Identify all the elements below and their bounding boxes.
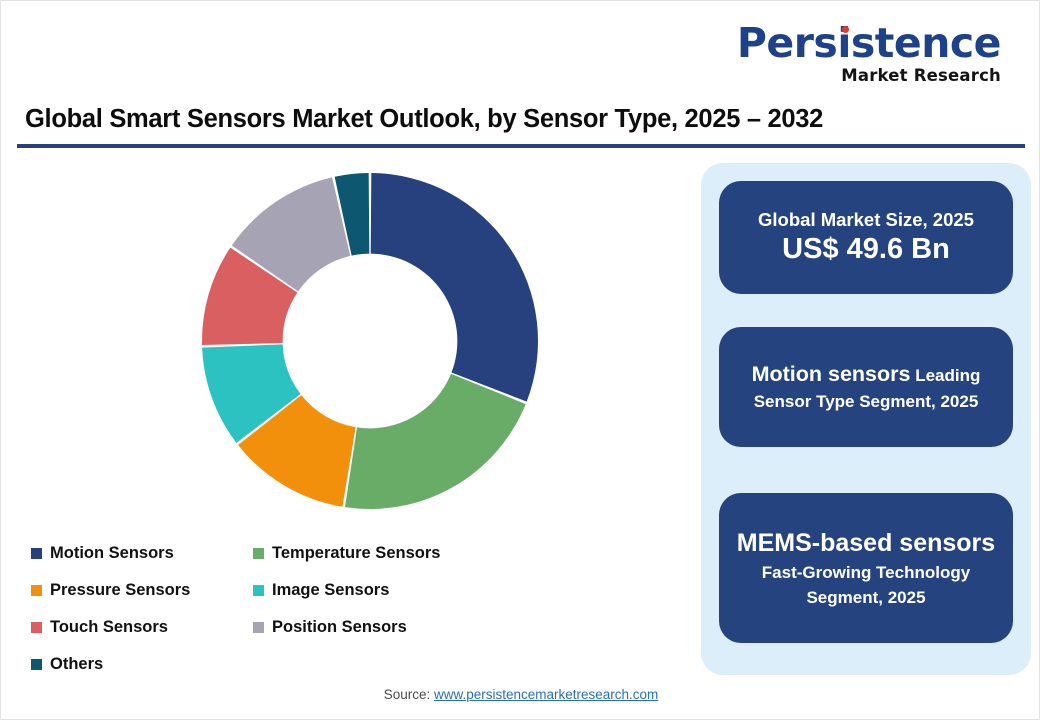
source-line: Source: www.persistencemarketresearch.co… xyxy=(1,687,1040,702)
stat-card-fast-growing-segment: MEMS-based sensors Fast-Growing Technolo… xyxy=(719,493,1013,643)
fast-growing-segment-emphasis: MEMS-based sensors xyxy=(737,529,995,557)
legend-item-label: Position Sensors xyxy=(272,618,407,637)
stat-card-market-size: Global Market Size, 2025 US$ 49.6 Bn xyxy=(719,181,1013,294)
chart-area xyxy=(17,156,689,536)
fast-growing-segment-text: MEMS-based sensors Fast-Growing Technolo… xyxy=(735,525,997,611)
title-divider xyxy=(17,144,1025,148)
donut-chart xyxy=(200,171,540,511)
legend-item[interactable]: Touch Sensors xyxy=(31,609,253,646)
legend-item-label: Temperature Sensors xyxy=(272,544,440,563)
chart-legend: Motion SensorsTemperature SensorsPressur… xyxy=(31,535,691,683)
legend-item[interactable]: Motion Sensors xyxy=(31,535,253,572)
legend-item[interactable]: Others xyxy=(31,646,253,683)
legend-swatch-icon xyxy=(253,622,264,633)
market-size-value: US$ 49.6 Bn xyxy=(782,233,950,266)
logo-wordmark-text: Persistence xyxy=(737,19,1001,67)
logo-wordmark: Persistence xyxy=(737,23,1001,64)
leading-segment-text: Motion sensors Leading Sensor Type Segme… xyxy=(735,359,997,415)
donut-chart-svg xyxy=(200,171,540,511)
page-title: Global Smart Sensors Market Outlook, by … xyxy=(25,105,823,134)
brand-logo: Persistence Market Research xyxy=(737,23,1001,85)
legend-item[interactable]: Position Sensors xyxy=(253,609,475,646)
legend-item[interactable]: Temperature Sensors xyxy=(253,535,475,572)
donut-slice-motion-sensors[interactable] xyxy=(371,173,538,402)
leading-segment-emphasis: Motion sensors xyxy=(752,362,911,386)
market-size-heading: Global Market Size, 2025 xyxy=(758,208,974,231)
fast-growing-segment-rest: Fast-Growing Technology Segment, 2025 xyxy=(762,563,970,607)
donut-slices xyxy=(202,173,538,509)
legend-swatch-icon xyxy=(31,548,42,559)
legend-swatch-icon xyxy=(31,659,42,670)
stat-card-leading-segment: Motion sensors Leading Sensor Type Segme… xyxy=(719,327,1013,447)
legend-swatch-icon xyxy=(253,548,264,559)
donut-slice-temperature-sensors[interactable] xyxy=(345,374,526,509)
logo-subtitle: Market Research xyxy=(737,68,1001,85)
source-link[interactable]: www.persistencemarketresearch.com xyxy=(434,687,658,702)
legend-item-label: Image Sensors xyxy=(272,581,389,600)
highlights-panel: Global Market Size, 2025 US$ 49.6 Bn Mot… xyxy=(701,163,1031,675)
legend-item[interactable]: Image Sensors xyxy=(253,572,475,609)
logo-dot-icon xyxy=(842,26,849,33)
legend-swatch-icon xyxy=(31,622,42,633)
legend-swatch-icon xyxy=(253,585,264,596)
infographic-page: Persistence Market Research Global Smart… xyxy=(0,0,1040,720)
legend-item-label: Touch Sensors xyxy=(50,618,168,637)
legend-item-label: Others xyxy=(50,655,103,674)
legend-item[interactable]: Pressure Sensors xyxy=(31,572,253,609)
source-label: Source: xyxy=(384,687,434,702)
legend-item-label: Motion Sensors xyxy=(50,544,174,563)
legend-item-label: Pressure Sensors xyxy=(50,581,190,600)
legend-swatch-icon xyxy=(31,585,42,596)
